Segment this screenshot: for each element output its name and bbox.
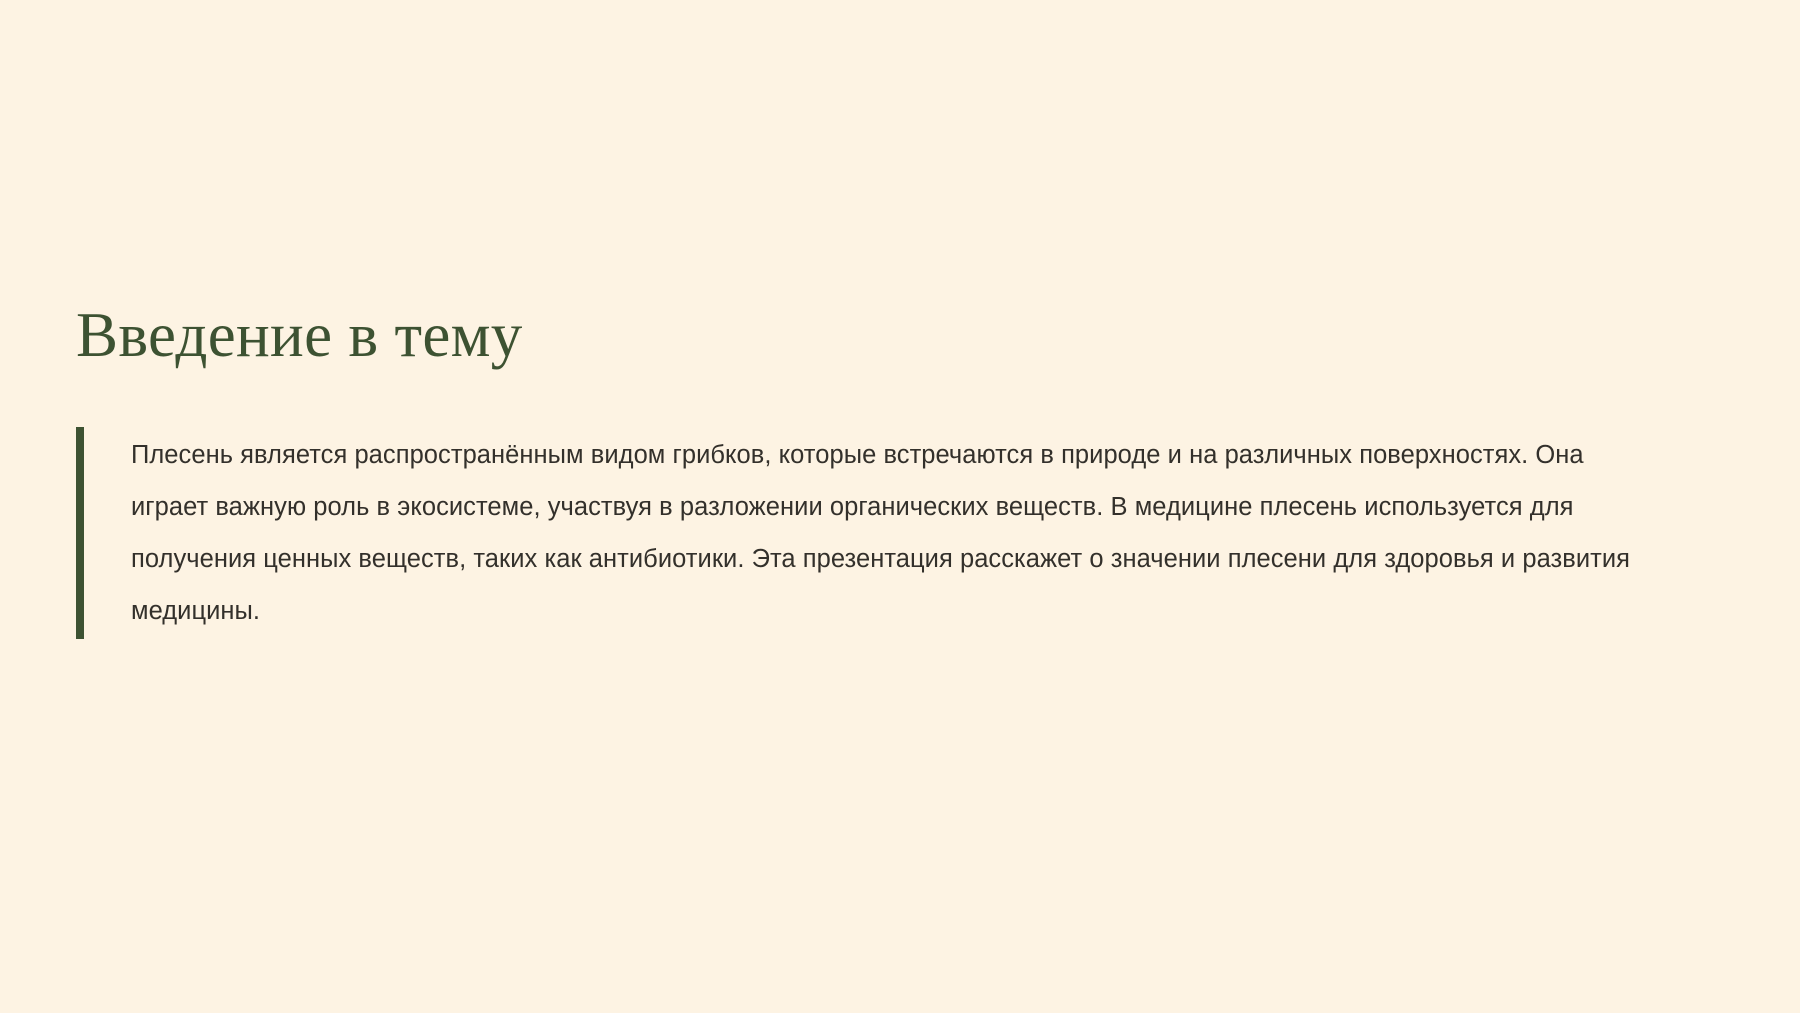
presentation-slide: Введение в тему Плесень является распрос… [0,0,1800,1013]
accent-bar [76,427,84,639]
body-quote-block: Плесень является распространённым видом … [76,427,1676,639]
page-title: Введение в тему [76,300,1676,371]
body-paragraph: Плесень является распространённым видом … [131,429,1651,637]
slide-content: Введение в тему Плесень является распрос… [76,300,1676,639]
body-text-container: Плесень является распространённым видом … [84,427,1676,639]
